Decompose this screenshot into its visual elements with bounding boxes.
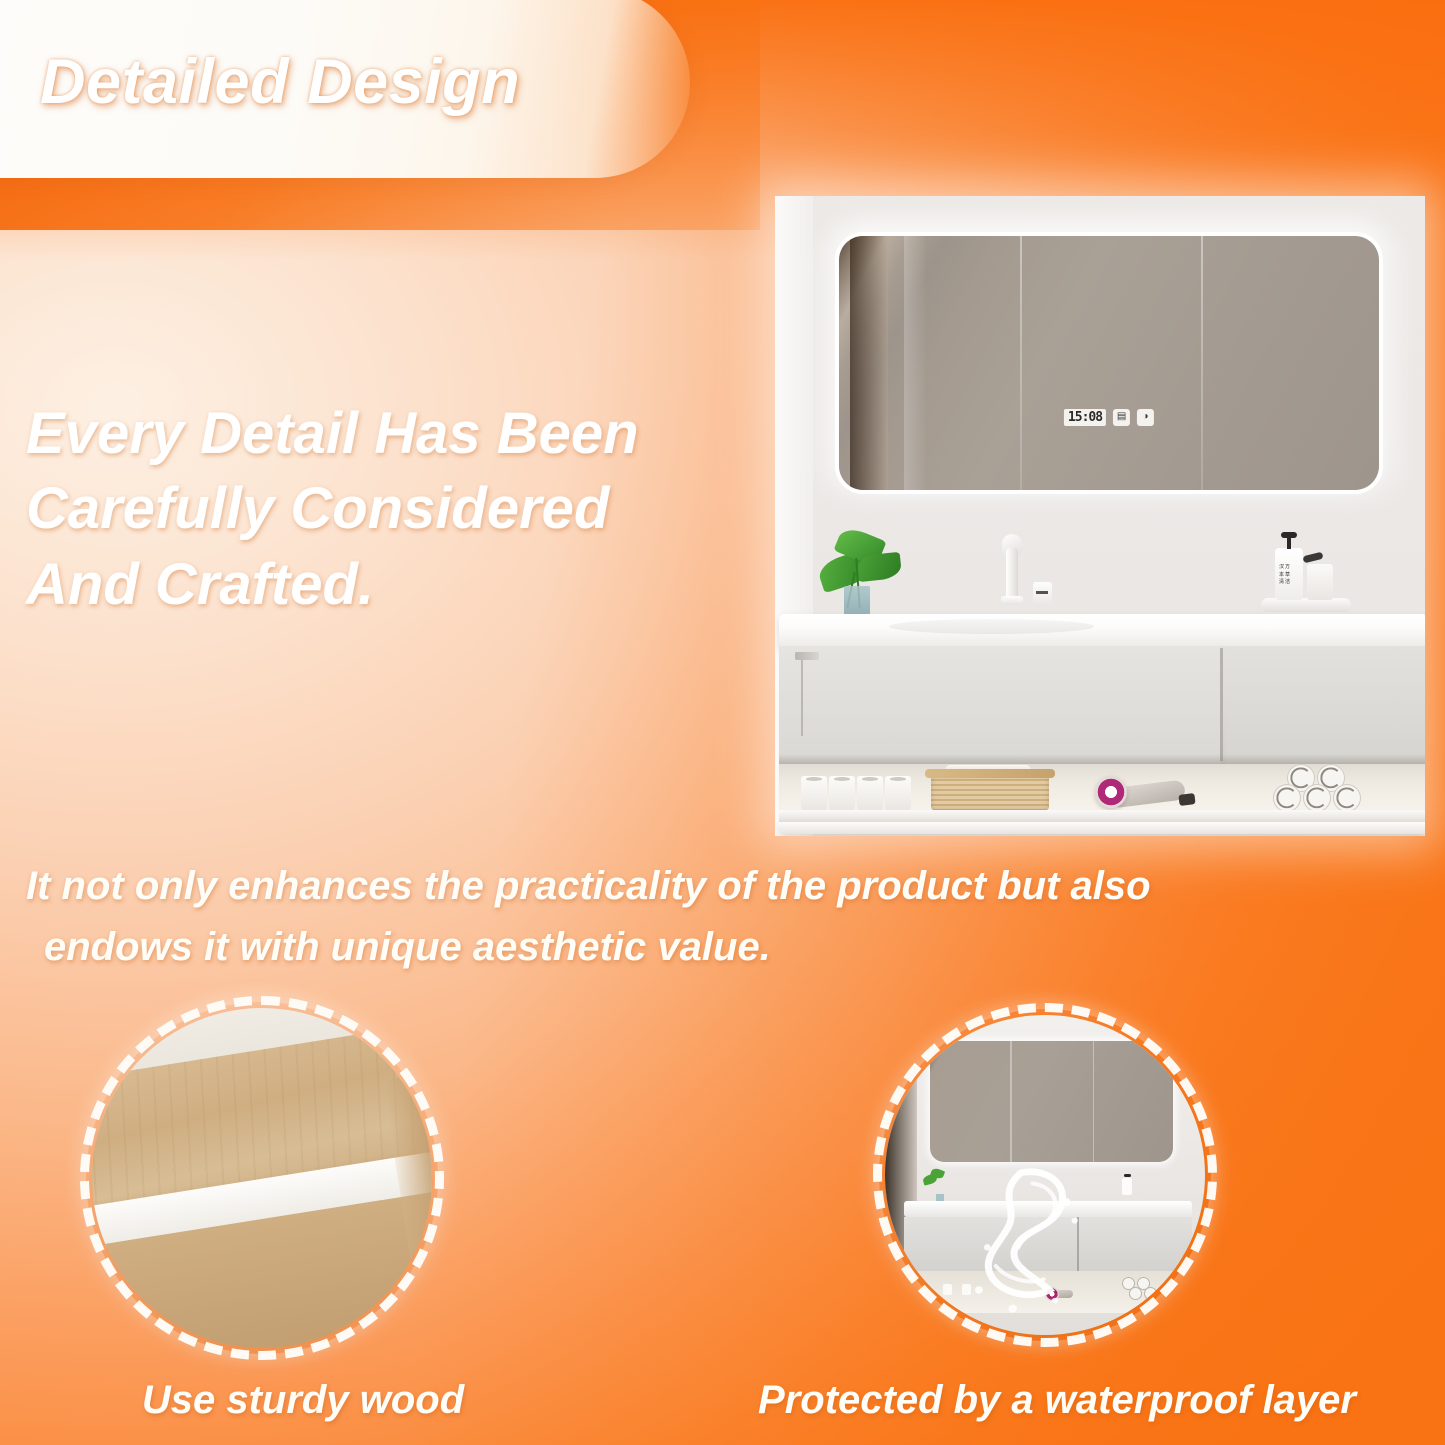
- banner-title: Detailed Design: [40, 46, 520, 118]
- dashed-ring-wood: [80, 996, 444, 1360]
- mirror-clock-display: 15:08: [1064, 409, 1106, 426]
- shelf-bottom-lip: [779, 822, 1425, 834]
- mirror-reflection-light: [904, 236, 926, 490]
- calendar-icon: ▤: [1113, 409, 1130, 426]
- countertop: [779, 614, 1425, 648]
- drawer-seam: [1220, 648, 1223, 761]
- soap-label: 汉方 本草 清洁: [1279, 564, 1299, 586]
- mirror-reflection-dark: [850, 236, 888, 490]
- caption-waterproof: Protected by a waterproof layer: [758, 1378, 1356, 1423]
- drawer-right: [1226, 646, 1425, 764]
- mirror-door-seam-right: [1201, 236, 1203, 490]
- drawer-edge-line: [801, 660, 803, 736]
- basket-rim: [925, 769, 1055, 778]
- callout-waterproof: [885, 1015, 1205, 1335]
- hair-dryer-nozzle: [1095, 776, 1127, 808]
- integrated-basin: [889, 619, 1094, 634]
- shelf-floor: [779, 810, 1425, 822]
- woven-basket: [931, 774, 1049, 810]
- mirror-touch-panel: 15:08 ▤ ◑: [1064, 409, 1154, 426]
- callout-wood: [92, 1008, 432, 1348]
- main-product-photo: 15:08 ▤ ◑ 汉方 本草 清洁: [775, 196, 1425, 836]
- faucet-base: [1001, 596, 1023, 605]
- mirror-cabinet: 15:08 ▤ ◑: [835, 232, 1383, 494]
- rolled-towel: [1333, 784, 1361, 812]
- mirror-glass: 15:08 ▤ ◑: [839, 236, 1379, 490]
- open-shelf: [779, 764, 1425, 826]
- hair-dryer-handle: [1178, 793, 1195, 806]
- monstera-plant: [817, 524, 903, 618]
- second-dispenser: [1307, 564, 1333, 600]
- headline-line-2: Carefully Considered: [26, 471, 826, 546]
- toilet-paper-roll: [857, 776, 883, 810]
- subtext-line-1: It not only enhances the practicality of…: [26, 856, 1445, 917]
- headline-line-1: Every Detail Has Been: [26, 396, 826, 471]
- toilet-paper-roll: [829, 776, 855, 810]
- caption-wood: Use sturdy wood: [142, 1378, 464, 1423]
- subtext-line-2: endows it with unique aesthetic value.: [44, 917, 1445, 978]
- rolled-towel: [1303, 784, 1331, 812]
- headline-line-3: And Crafted.: [26, 547, 826, 622]
- power-icon: ◑: [1137, 409, 1154, 426]
- cabinet-underside-shadow: [779, 754, 1425, 764]
- mirror-door-seam-left: [1020, 236, 1022, 490]
- toilet-paper-roll: [885, 776, 911, 810]
- soap-dispenser-bottle: 汉方 本草 清洁: [1275, 548, 1303, 600]
- accessory-tray: [1261, 598, 1351, 612]
- subtext: It not only enhances the practicality of…: [26, 856, 1445, 978]
- faucet-column: [1006, 548, 1018, 600]
- soap-pump-head: [1281, 532, 1297, 538]
- toilet-paper-roll: [801, 776, 827, 810]
- rolled-towel: [1273, 784, 1301, 812]
- drawer-left: [779, 646, 1220, 764]
- vanity-cabinet: [779, 646, 1425, 764]
- poster-canvas: Detailed Design Every Detail Has Been Ca…: [0, 0, 1445, 1445]
- dashed-ring-waterproof: [873, 1003, 1217, 1347]
- headline: Every Detail Has Been Carefully Consider…: [26, 396, 826, 622]
- counter-dispenser: [1033, 582, 1052, 606]
- drawer-hinge: [795, 652, 819, 660]
